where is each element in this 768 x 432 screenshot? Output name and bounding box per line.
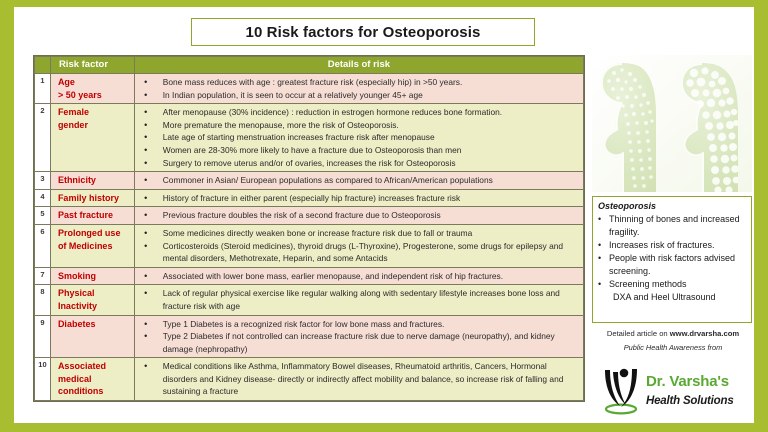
- details-of-risk-cell: •After menopause (30% incidence) : reduc…: [134, 104, 583, 172]
- risk-factor-line: Diabetes: [58, 318, 132, 331]
- details-of-risk-cell: •Lack of regular physical exercise like …: [134, 285, 583, 315]
- article-prefix-label: Detailed article on: [607, 329, 670, 338]
- bullet-dot-icon: •: [598, 252, 609, 278]
- risk-factor-label: Ethnicity: [51, 172, 134, 189]
- row-number-cell: 9: [35, 315, 51, 358]
- risk-factor-line: Physical: [58, 287, 132, 300]
- table-row: 9Diabetes•Type 1 Diabetes is a recognize…: [35, 315, 584, 358]
- risk-factor-cell: Associatedmedicalconditions: [50, 358, 134, 401]
- details-bullet-list: •Previous fracture doubles the risk of a…: [135, 207, 583, 224]
- bullet-dot-icon: •: [598, 239, 609, 252]
- details-bullet-text: Commoner in Asian/ European populations …: [157, 174, 583, 187]
- details-bullet-item: •Bone mass reduces with age : greatest f…: [135, 76, 583, 89]
- details-bullet-item: •Surgery to remove uterus and/or of ovar…: [135, 157, 583, 170]
- risk-factor-line: Family history: [58, 192, 132, 205]
- risk-factor-label: Family history: [51, 190, 134, 207]
- detailed-article-line: Detailed article on www.drvarsha.com: [592, 329, 754, 338]
- details-bullet-text: More premature the menopause, more the r…: [157, 119, 583, 132]
- details-bullet-list: •Type 1 Diabetes is a recognized risk fa…: [135, 316, 583, 358]
- table-row: 6Prolonged useof Medicines•Some medicine…: [35, 224, 584, 267]
- row-number: 6: [35, 225, 50, 237]
- details-bullet-item: •Previous fracture doubles the risk of a…: [135, 209, 583, 222]
- info-box-bullet-item: •People with risk factors advised screen…: [598, 252, 748, 278]
- osteoporosis-info-box: Osteoporosis •Thinning of bones and incr…: [592, 196, 752, 323]
- bullet-dot-icon: •: [598, 278, 609, 291]
- table-row: 8PhysicalInactivity•Lack of regular phys…: [35, 285, 584, 315]
- details-bullet-item: •More premature the menopause, more the …: [135, 119, 583, 132]
- risk-factor-line: > 50 years: [58, 89, 132, 102]
- bullet-dot-icon: •: [598, 213, 609, 239]
- header-cell-number: [35, 57, 51, 74]
- info-box-bullet-text: Increases risk of fractures.: [609, 239, 748, 252]
- bullet-dot-icon: •: [135, 192, 157, 205]
- details-bullet-text: Late age of starting menstruation increa…: [157, 131, 583, 144]
- risk-factors-table: Risk factorDetails of risk1Age> 50 years…: [33, 55, 585, 402]
- details-bullet-list: •Commoner in Asian/ European populations…: [135, 172, 583, 189]
- risk-factor-cell: Prolonged useof Medicines: [50, 224, 134, 267]
- info-box-title: Osteoporosis: [598, 201, 748, 211]
- bullet-dot-icon: •: [135, 106, 157, 119]
- poster-root: 10 Risk factors for Osteoporosis Risk fa…: [0, 0, 768, 432]
- poster-title-box: 10 Risk factors for Osteoporosis: [191, 18, 535, 46]
- row-number: 1: [35, 74, 50, 86]
- details-bullet-list: •Medical conditions like Asthma, Inflamm…: [135, 358, 583, 400]
- details-bullet-text: Some medicines directly weaken bone or i…: [157, 227, 583, 240]
- row-number-cell: 10: [35, 358, 51, 401]
- row-number-cell: 3: [35, 172, 51, 190]
- poster-canvas: 10 Risk factors for Osteoporosis Risk fa…: [14, 7, 754, 423]
- row-number: 9: [35, 316, 50, 328]
- row-number: 2: [35, 104, 50, 116]
- table-row: 1Age> 50 years•Bone mass reduces with ag…: [35, 74, 584, 104]
- brand-name-line1: Dr. Varsha's: [646, 373, 729, 390]
- risk-factor-line: Inactivity: [58, 300, 132, 313]
- info-box-bullet-item: •Screening methods: [598, 278, 748, 291]
- table-row: 5Past fracture•Previous fracture doubles…: [35, 207, 584, 225]
- risk-factor-line: medical: [58, 373, 132, 386]
- risk-factor-line: Smoking: [58, 270, 132, 283]
- details-bullet-list: •History of fracture in either parent (e…: [135, 190, 583, 207]
- info-box-bullet-text: Screening methods: [609, 278, 748, 291]
- details-bullet-list: •Bone mass reduces with age : greatest f…: [135, 74, 583, 103]
- bone-illustration-svg: [592, 55, 752, 192]
- details-bullet-text: Type 2 Diabetes if not controlled can in…: [157, 330, 583, 355]
- risk-factor-label: Diabetes: [51, 316, 134, 333]
- details-bullet-item: •Some medicines directly weaken bone or …: [135, 227, 583, 240]
- bullet-dot-icon: •: [135, 270, 157, 283]
- risk-factor-line: Female: [58, 106, 132, 119]
- header-cell-risk-factor: Risk factor: [50, 57, 134, 74]
- details-of-risk-cell: •Type 1 Diabetes is a recognized risk fa…: [134, 315, 583, 358]
- risk-factor-label: Prolonged useof Medicines: [51, 225, 134, 254]
- details-of-risk-cell: •Associated with lower bone mass, earlie…: [134, 267, 583, 285]
- details-of-risk-cell: •Medical conditions like Asthma, Inflamm…: [134, 358, 583, 401]
- risk-factor-line: Associated: [58, 360, 132, 373]
- row-number-cell: 2: [35, 104, 51, 172]
- table-header-row: Risk factorDetails of risk: [35, 57, 584, 74]
- table-row: 4Family history•History of fracture in e…: [35, 189, 584, 207]
- risk-factor-cell: Family history: [50, 189, 134, 207]
- bullet-dot-icon: •: [135, 76, 157, 89]
- details-bullet-list: •Associated with lower bone mass, earlie…: [135, 268, 583, 285]
- info-box-bullet-item: •Thinning of bones and increased fragili…: [598, 213, 748, 239]
- brand-logo-text: Dr. Varsha's Health Solutions: [646, 373, 751, 409]
- details-bullet-item: •Type 1 Diabetes is a recognized risk fa…: [135, 318, 583, 331]
- bullet-dot-icon: •: [135, 89, 157, 102]
- table-row: 10Associatedmedicalconditions•Medical co…: [35, 358, 584, 401]
- table-row: 2Femalegender•After menopause (30% incid…: [35, 104, 584, 172]
- details-bullet-item: •Medical conditions like Asthma, Inflamm…: [135, 360, 583, 398]
- page-title: 10 Risk factors for Osteoporosis: [246, 24, 481, 41]
- row-number: 3: [35, 172, 50, 184]
- row-number: 10: [35, 358, 50, 370]
- details-bullet-list: •After menopause (30% incidence) : reduc…: [135, 104, 583, 171]
- risk-factor-line: Age: [58, 76, 132, 89]
- details-bullet-list: •Lack of regular physical exercise like …: [135, 285, 583, 314]
- risk-factor-cell: Diabetes: [50, 315, 134, 358]
- info-box-bullet-text: People with risk factors advised screeni…: [609, 252, 748, 278]
- risk-factor-cell: PhysicalInactivity: [50, 285, 134, 315]
- row-number-cell: 4: [35, 189, 51, 207]
- risk-factor-label: Smoking: [51, 268, 134, 285]
- details-of-risk-cell: •Some medicines directly weaken bone or …: [134, 224, 583, 267]
- details-bullet-item: •In Indian population, it is seen to occ…: [135, 89, 583, 102]
- row-number: 7: [35, 268, 50, 280]
- risk-factor-label: PhysicalInactivity: [51, 285, 134, 314]
- details-bullet-item: •Commoner in Asian/ European populations…: [135, 174, 583, 187]
- risk-factor-line: Prolonged use: [58, 227, 132, 240]
- info-box-bullet-text: Thinning of bones and increased fragilit…: [609, 213, 748, 239]
- bullet-dot-icon: •: [135, 360, 157, 398]
- bullet-dot-icon: •: [135, 119, 157, 132]
- bullet-dot-icon: •: [135, 227, 157, 240]
- details-bullet-text: After menopause (30% incidence) : reduct…: [157, 106, 583, 119]
- details-bullet-text: Surgery to remove uterus and/or of ovari…: [157, 157, 583, 170]
- row-number: 4: [35, 190, 50, 202]
- brand-logo: Dr. Varsha's Health Solutions: [599, 363, 751, 419]
- risk-factor-cell: Ethnicity: [50, 172, 134, 190]
- details-bullet-text: Type 1 Diabetes is a recognized risk fac…: [157, 318, 583, 331]
- details-of-risk-cell: •Commoner in Asian/ European populations…: [134, 172, 583, 190]
- row-number-cell: 6: [35, 224, 51, 267]
- details-bullet-item: •Women are 28-30% more likely to have a …: [135, 144, 583, 157]
- details-bullet-item: •Type 2 Diabetes if not controlled can i…: [135, 330, 583, 355]
- risk-factor-line: of Medicines: [58, 240, 132, 253]
- details-bullet-text: In Indian population, it is seen to occu…: [157, 89, 583, 102]
- row-number-cell: 5: [35, 207, 51, 225]
- bullet-dot-icon: •: [135, 240, 157, 265]
- details-of-risk-cell: •Previous fracture doubles the risk of a…: [134, 207, 583, 225]
- row-number: 8: [35, 285, 50, 297]
- details-bullet-text: Women are 28-30% more likely to have a f…: [157, 144, 583, 157]
- brand-name-line2: Health Solutions: [646, 395, 734, 407]
- details-of-risk-cell: •History of fracture in either parent (e…: [134, 189, 583, 207]
- details-bullet-text: History of fracture in either parent (es…: [157, 192, 583, 205]
- risk-factor-line: gender: [58, 119, 132, 132]
- risk-factor-label: Past fracture: [51, 207, 134, 224]
- details-bullet-text: Previous fracture doubles the risk of a …: [157, 209, 583, 222]
- varsha-leaf-figure-icon: [599, 366, 645, 416]
- info-box-sub-line: DXA and Heel Ultrasound: [598, 291, 748, 304]
- details-bullet-text: Associated with lower bone mass, earlier…: [157, 270, 583, 283]
- details-bullet-text: Corticosteroids (Steroid medicines), thy…: [157, 240, 583, 265]
- details-bullet-text: Medical conditions like Asthma, Inflamma…: [157, 360, 583, 398]
- details-of-risk-cell: •Bone mass reduces with age : greatest f…: [134, 74, 583, 104]
- bullet-dot-icon: •: [135, 144, 157, 157]
- risk-factor-cell: Age> 50 years: [50, 74, 134, 104]
- row-number: 5: [35, 207, 50, 219]
- public-health-awareness-label: Public Health Awareness from: [592, 343, 754, 352]
- table-row: 3Ethnicity•Commoner in Asian/ European p…: [35, 172, 584, 190]
- details-bullet-text: Bone mass reduces with age : greatest fr…: [157, 76, 583, 89]
- details-bullet-item: •Late age of starting menstruation incre…: [135, 131, 583, 144]
- risk-factor-cell: Smoking: [50, 267, 134, 285]
- row-number-cell: 8: [35, 285, 51, 315]
- risk-factor-label: Femalegender: [51, 104, 134, 133]
- risk-factor-cell: Past fracture: [50, 207, 134, 225]
- risk-factor-line: Past fracture: [58, 209, 132, 222]
- row-number-cell: 1: [35, 74, 51, 104]
- details-bullet-item: •History of fracture in either parent (e…: [135, 192, 583, 205]
- femur-bone-comparison-image: [592, 55, 752, 192]
- bullet-dot-icon: •: [135, 287, 157, 312]
- risk-factor-label: Age> 50 years: [51, 74, 134, 103]
- details-bullet-item: •Corticosteroids (Steroid medicines), th…: [135, 240, 583, 265]
- bullet-dot-icon: •: [135, 318, 157, 331]
- header-cell-details-of-risk: Details of risk: [134, 57, 583, 74]
- info-box-bullet-item: •Increases risk of fractures.: [598, 239, 748, 252]
- row-number-cell: 7: [35, 267, 51, 285]
- bullet-dot-icon: •: [135, 157, 157, 170]
- risk-factor-label: Associatedmedicalconditions: [51, 358, 134, 400]
- risk-factor-line: Ethnicity: [58, 174, 132, 187]
- risk-factor-line: conditions: [58, 385, 132, 398]
- website-link[interactable]: www.drvarsha.com: [670, 329, 739, 338]
- risk-factor-cell: Femalegender: [50, 104, 134, 172]
- table-row: 7Smoking•Associated with lower bone mass…: [35, 267, 584, 285]
- details-bullet-item: •Associated with lower bone mass, earlie…: [135, 270, 583, 283]
- bullet-dot-icon: •: [135, 131, 157, 144]
- info-box-bullet-list: •Thinning of bones and increased fragili…: [598, 213, 748, 291]
- details-bullet-item: •Lack of regular physical exercise like …: [135, 287, 583, 312]
- details-bullet-item: •After menopause (30% incidence) : reduc…: [135, 106, 583, 119]
- details-bullet-list: •Some medicines directly weaken bone or …: [135, 225, 583, 267]
- bullet-dot-icon: •: [135, 209, 157, 222]
- bullet-dot-icon: •: [135, 174, 157, 187]
- details-bullet-text: Lack of regular physical exercise like r…: [157, 287, 583, 312]
- bullet-dot-icon: •: [135, 330, 157, 355]
